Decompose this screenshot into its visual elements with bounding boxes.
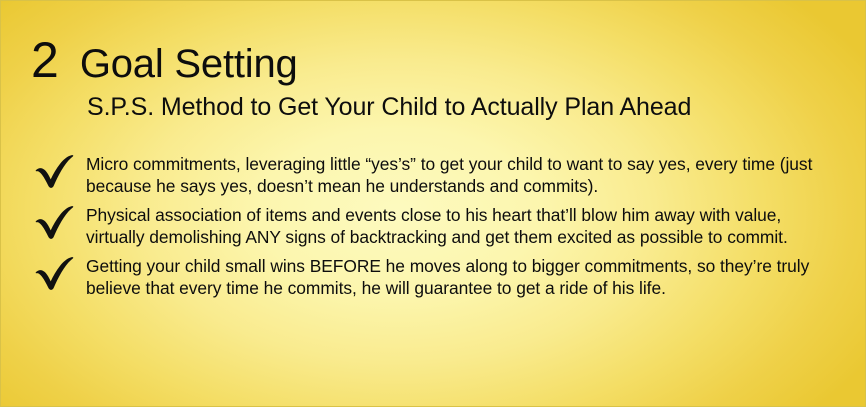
bullet-list: Micro commitments, leveraging little “ye… <box>31 153 843 305</box>
check-icon <box>34 155 76 189</box>
check-icon <box>34 206 76 240</box>
list-item: Physical association of items and events… <box>31 204 843 249</box>
check-icon <box>34 257 76 291</box>
list-item-text: Getting your child small wins BEFORE he … <box>86 255 843 300</box>
list-item-text: Micro commitments, leveraging little “ye… <box>86 153 843 198</box>
slide-number: 2 <box>31 35 59 85</box>
slide-canvas: 2 Goal Setting S.P.S. Method to Get Your… <box>0 0 866 407</box>
list-item: Getting your child small wins BEFORE he … <box>31 255 843 300</box>
list-item: Micro commitments, leveraging little “ye… <box>31 153 843 198</box>
slide-header: 2 Goal Setting S.P.S. Method to Get Your… <box>31 35 845 121</box>
page-subtitle: S.P.S. Method to Get Your Child to Actua… <box>87 93 845 121</box>
title-row: 2 Goal Setting <box>31 35 845 85</box>
list-item-text: Physical association of items and events… <box>86 204 843 249</box>
page-title: Goal Setting <box>80 44 298 84</box>
